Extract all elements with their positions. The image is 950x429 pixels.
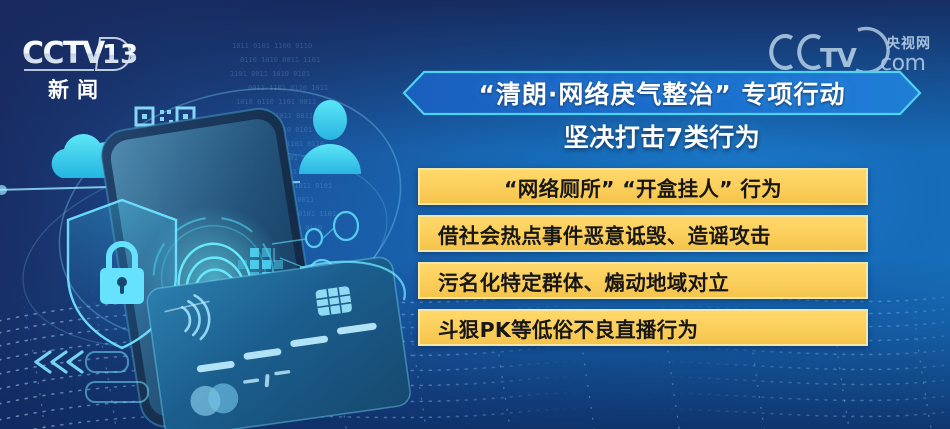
point-text: 斗狠PK等低俗不良直播行为 (438, 313, 698, 343)
point-text: 污名化特定群体、煽动地域对立 (438, 266, 729, 296)
svg-text:13: 13 (102, 40, 138, 70)
news-graphic-stage: 1011 0101 1100 0110 0110 1010 0011 1101 … (0, 0, 950, 429)
point-text: 借社会热点事件恶意诋毁、造谣攻击 (438, 219, 771, 249)
banner-title: “清朗·网络戾气整治” 专项行动 (402, 70, 922, 116)
svg-text:央视网: 央视网 (886, 35, 931, 52)
svg-text:新闻: 新闻 (48, 78, 106, 102)
headline-subtitle: 坚决打击7类行为 (402, 118, 922, 154)
list-item: 借社会热点事件恶意诋毁、造谣攻击 (418, 215, 868, 252)
headline-banner: “清朗·网络戾气整治” 专项行动 (402, 70, 922, 116)
point-text: “网络厕所” “开盒挂人” 行为 (504, 172, 782, 202)
points-list: “网络厕所” “开盒挂人” 行为 借社会热点事件恶意诋毁、造谣攻击 污名化特定群… (418, 168, 868, 346)
user-avatar-icon (299, 100, 361, 174)
list-item: 斗狠PK等低俗不良直播行为 (418, 309, 868, 346)
list-item: “网络厕所” “开盒挂人” 行为 (418, 168, 868, 205)
chevron-left-icons (36, 352, 82, 372)
svg-text:CCTV: CCTV (22, 36, 106, 71)
cctv13-logo-icon: CCTV 13 新闻 (18, 30, 153, 102)
cntv-web-logo-icon: TV 央视网 com (762, 24, 940, 76)
list-item: 污名化特定群体、煽动地域对立 (418, 262, 868, 299)
card-chip-icon (315, 286, 352, 316)
